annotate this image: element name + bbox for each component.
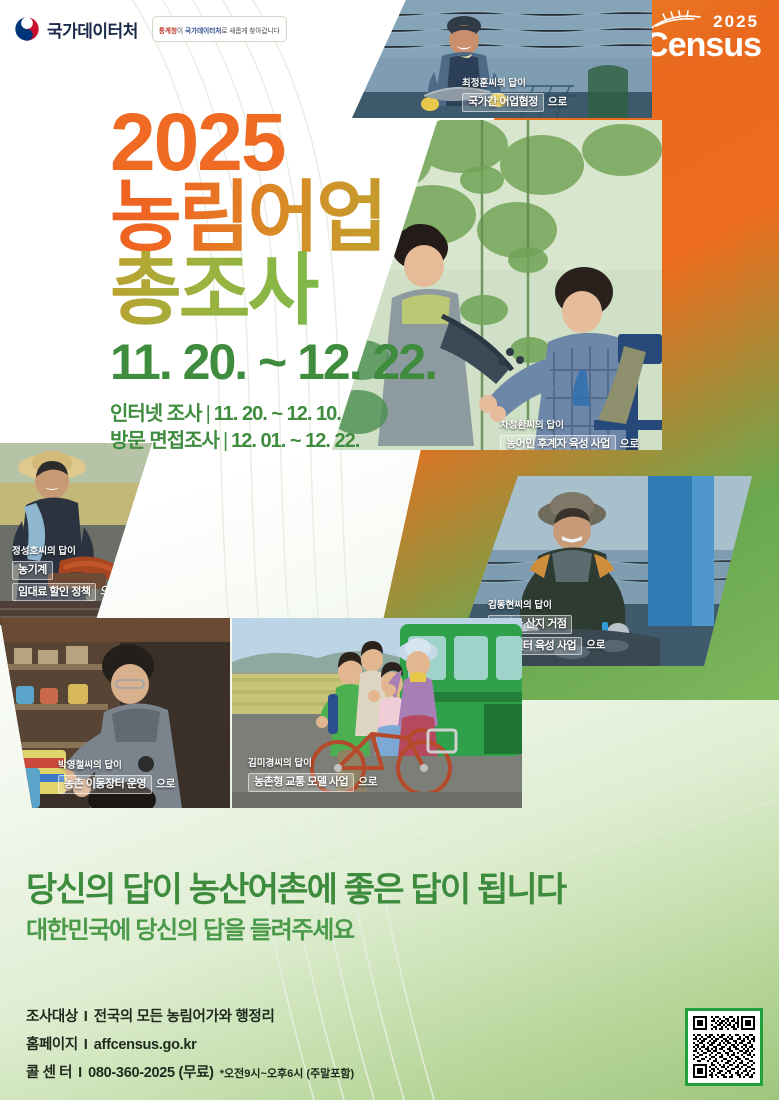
caption-tractor: 정성호씨의 답이 농기계 임대료 할인 정책 으로 bbox=[12, 546, 120, 601]
caption-policy-tag: 농어민 후계자 육성 사업 bbox=[500, 435, 616, 450]
badge-line-2: 새롭게 찾아갑니다 bbox=[229, 28, 279, 35]
badge-old-agency: 통계청 bbox=[159, 28, 177, 35]
census-year: 2025 bbox=[713, 12, 759, 32]
title-line-2: 총조사 bbox=[110, 251, 436, 331]
slogan-line-2: 대한민국에 당신의 답을 들려주세요 bbox=[26, 917, 565, 946]
caption-policy-tag: 국가간 어업협정 bbox=[462, 93, 544, 111]
survey-method-row: 인터넷 조사|11. 20. ~ 12. 10. bbox=[110, 401, 436, 428]
qr-code[interactable] bbox=[685, 1008, 763, 1086]
footer-row-target: 조사대상 I 전국의 모든 농림어가와 행정리 bbox=[26, 1005, 354, 1026]
footer-info: 조사대상 I 전국의 모든 농림어가와 행정리 홈페이지 I affcensus… bbox=[26, 1005, 354, 1089]
footer-label: 홈페이지 bbox=[26, 1033, 78, 1054]
method-label: 방문 면접조사 bbox=[110, 430, 219, 452]
caption-person-name: 박영철씨의 답이 bbox=[58, 760, 175, 772]
slogan-line-1: 당신의 답이 농산어촌에 좋은 답이 됩니다 bbox=[26, 872, 565, 909]
footer-value: 전국의 모든 농림어가와 행정리 bbox=[94, 1005, 275, 1026]
title-year: 2025 bbox=[110, 104, 436, 182]
caption-market: 박영철씨의 답이 농촌 이동장터 운영 으로 bbox=[58, 760, 175, 794]
method-separator: | bbox=[219, 430, 231, 452]
caption-person-name: 김미경씨의 답이 bbox=[248, 758, 378, 770]
badge-particle-2: 로 bbox=[221, 28, 227, 35]
caption-person-name: 김동현씨의 답이 bbox=[488, 600, 605, 612]
survey-methods: 인터넷 조사|11. 20. ~ 12. 10. 방문 면접조사|12. 01.… bbox=[110, 401, 436, 455]
footer-separator: I bbox=[72, 1065, 88, 1081]
survey-method-row: 방문 면접조사|12. 01. ~ 12. 22. bbox=[110, 428, 436, 455]
method-separator: | bbox=[202, 403, 214, 425]
qr-code-image bbox=[691, 1014, 757, 1080]
caption-policy-tag: 농촌형 교통 모델 사업 bbox=[248, 773, 354, 791]
method-period: 11. 20. ~ 12. 10. bbox=[214, 403, 341, 425]
method-label: 인터넷 조사 bbox=[110, 403, 202, 425]
slogan-block: 당신의 답이 농산어촌에 좋은 답이 됩니다 대한민국에 당신의 답을 들려주세… bbox=[26, 872, 565, 946]
caption-suffix: 으로 bbox=[586, 639, 605, 653]
caption-suffix: 으로 bbox=[156, 778, 175, 792]
photo-fisherman-top: 최정훈씨의 답이 국가간 어업협정 으로 bbox=[352, 0, 652, 118]
wheat-icon bbox=[646, 10, 704, 32]
caption-person-name: 최정훈씨의 답이 bbox=[462, 78, 567, 90]
badge-particle-1: 이 bbox=[177, 28, 185, 35]
government-logo: 국가데이터처 통계청이 국가데이터처로 새롭게 찾아갑니다 bbox=[14, 16, 287, 42]
call-center-number[interactable]: 080-360-2025 (무료) bbox=[88, 1061, 214, 1082]
caption-suffix: 으로 bbox=[620, 438, 639, 450]
caption-fisherman-top: 최정훈씨의 답이 국가간 어업협정 으로 bbox=[462, 78, 567, 112]
footer-label: 콜 센 터 bbox=[26, 1061, 72, 1082]
website-url[interactable]: affcensus.go.kr bbox=[94, 1037, 197, 1053]
footer-label: 조사대상 bbox=[26, 1005, 78, 1026]
poster-root: 국가데이터처 통계청이 국가데이터처로 새롭게 찾아갑니다 2025 Censu… bbox=[0, 0, 779, 1100]
photo-market-vendor: 박영철씨의 답이 농촌 이동장터 운영 으로 bbox=[0, 618, 230, 808]
footer-separator: I bbox=[78, 1009, 94, 1025]
census-wordmark: Census bbox=[644, 28, 761, 62]
census-logo: 2025 Census bbox=[644, 8, 761, 62]
caption-policy-tag: 농기계 bbox=[12, 561, 53, 579]
caption-policy-tag: 농촌 이동장터 운영 bbox=[58, 775, 152, 793]
photo-tractor-farmer: 정성호씨의 답이 농기계 임대료 할인 정책 으로 bbox=[0, 443, 152, 625]
call-center-hours: *오전9시~오후6시 (주말포함) bbox=[220, 1065, 355, 1081]
caption-suffix: 으로 bbox=[358, 776, 377, 790]
caption-suffix: 으로 bbox=[100, 585, 119, 599]
government-name: 국가데이터처 bbox=[47, 17, 138, 42]
badge-new-agency: 국가데이터처 bbox=[185, 28, 221, 35]
rebrand-badge: 통계청이 국가데이터처로 새롭게 찾아갑니다 bbox=[152, 16, 287, 42]
caption-policy-tag-2: 임대료 할인 정책 bbox=[12, 583, 96, 601]
footer-row-callcenter: 콜 센 터 I 080-360-2025 (무료) *오전9시~오후6시 (주말… bbox=[26, 1061, 354, 1082]
method-period: 12. 01. ~ 12. 22. bbox=[231, 430, 359, 452]
footer-row-website: 홈페이지 I affcensus.go.kr bbox=[26, 1033, 354, 1054]
caption-suffix: 으로 bbox=[548, 96, 567, 110]
caption-greenhouse: 차정환씨의 답이 농어민 후계자 육성 사업 으로 bbox=[500, 420, 639, 450]
caption-person-name: 정성호씨의 답이 bbox=[12, 546, 120, 558]
photo-village-bus-family: 김미경씨의 답이 농촌형 교통 모델 사업 으로 bbox=[232, 618, 522, 808]
taegeuk-icon bbox=[14, 16, 40, 42]
caption-person-name: 차정환씨의 답이 bbox=[500, 420, 639, 432]
main-title-block: 2025 농림어업 총조사 11. 20. ~ 12. 22. 인터넷 조사|1… bbox=[110, 104, 436, 455]
title-date-range: 11. 20. ~ 12. 22. bbox=[110, 337, 436, 387]
caption-bus-family: 김미경씨의 답이 농촌형 교통 모델 사업 으로 bbox=[248, 758, 378, 792]
footer-separator: I bbox=[78, 1037, 94, 1053]
